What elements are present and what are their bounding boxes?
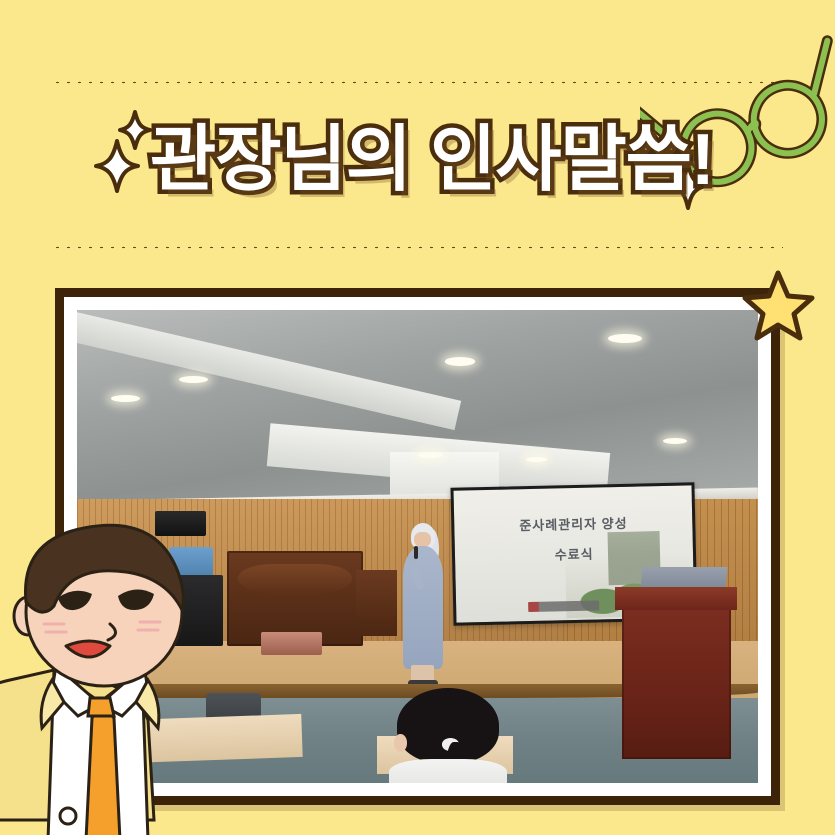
wooden-chair [356, 570, 397, 636]
divider-bottom [52, 244, 783, 249]
microphone [414, 546, 417, 559]
mascot-character [0, 520, 222, 835]
audience-member [397, 688, 499, 783]
podium-top [615, 587, 737, 610]
recessed-light [526, 457, 546, 462]
ear [394, 734, 407, 752]
podium [622, 594, 731, 760]
recessed-light [445, 357, 476, 366]
page-title: 관장님의 인사말씀! [0, 118, 835, 218]
ceiling-beam [77, 310, 461, 430]
shirt [389, 759, 507, 783]
recessed-light [608, 334, 642, 343]
piano-bench [261, 632, 322, 656]
star-icon [740, 268, 816, 349]
recessed-light [418, 452, 443, 458]
speaker-person [394, 523, 452, 689]
institution-logo [527, 600, 599, 612]
face [414, 532, 430, 547]
recessed-light [663, 438, 688, 444]
page-title-text: 관장님의 인사말씀! [150, 118, 714, 202]
card-root: 관장님의 인사말씀! [0, 0, 835, 835]
